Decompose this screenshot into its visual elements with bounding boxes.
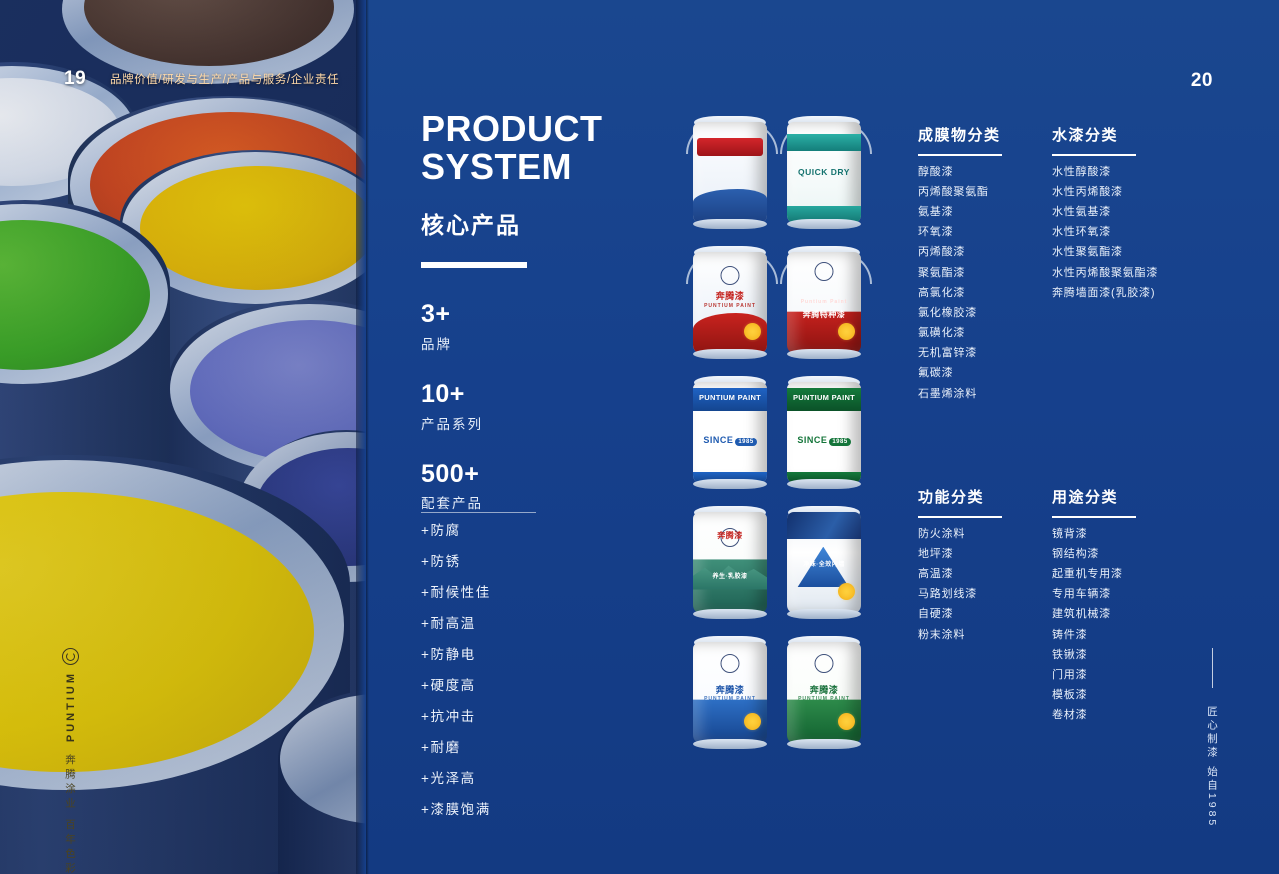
list-item: 防火涂料 [918, 529, 1002, 540]
feature-item: +漆膜饱满 [421, 803, 641, 817]
puntium-seal-icon [62, 648, 79, 665]
list-item: 氨基漆 [918, 207, 1002, 218]
list-item: 水性聚氨酯漆 [1052, 247, 1158, 258]
column-underline [918, 154, 1002, 156]
stat-label: 配套产品 [421, 492, 671, 512]
product-can-quick-dry: QUICK DRY [784, 108, 864, 226]
page-title-block: PRODUCT SYSTEM 核心产品 [421, 110, 681, 268]
list-item: 马路划线漆 [918, 589, 1002, 600]
brand-name-en: PUNTIUM [65, 671, 77, 742]
list-item: 地坪漆 [918, 549, 1002, 560]
product-can-puntium-paint-red: 奔腾漆 PUNTIUM PAINT [690, 238, 770, 356]
stat-number: 3+ [421, 300, 671, 329]
feature-item: +耐高温 [421, 617, 641, 631]
title-cn: 核心产品 [421, 206, 681, 240]
column-title: 成膜物分类 [918, 124, 1002, 145]
can-row: 奔腾漆 养生·乳胶漆 净味·全效内墙 [690, 498, 870, 620]
column-title: 用途分类 [1052, 486, 1136, 507]
list-item: 模板漆 [1052, 690, 1136, 701]
list-item: 粉末涂料 [918, 630, 1002, 641]
list-item: 氯化橡胶漆 [918, 308, 1002, 319]
column-items: 水性醇酸漆 水性丙烯酸漆 水性氨基漆 水性环氧漆 水性聚氨酯漆 水性丙烯酸聚氨酯… [1052, 167, 1158, 299]
feature-item: +耐候性佳 [421, 586, 641, 600]
list-item: 醇酸漆 [918, 167, 1002, 178]
can-row: PUNTIUM PAINT SINCE1985 PUNTIUM PAINT SI… [690, 368, 870, 490]
paint-cans-photo [0, 0, 366, 874]
stat-number: 500+ [421, 460, 671, 489]
product-can-puntium-blue: 奔腾漆 PUNTIUM PAINT [690, 628, 770, 746]
product-can-since-blue: PUNTIUM PAINT SINCE1985 [690, 368, 770, 486]
list-item: 水性丙烯酸漆 [1052, 187, 1158, 198]
column-underline [918, 516, 1002, 518]
list-item: 镜背漆 [1052, 529, 1136, 540]
vertical-rule [1212, 648, 1214, 688]
classification-column-usage: 用途分类 镜背漆 钢结构漆 起重机专用漆 专用车辆漆 建筑机械漆 铸件漆 铁锹漆… [1052, 486, 1136, 730]
brand-tagline-cn: 奔腾涂业 百年色彩 [63, 754, 78, 874]
list-item: 聚氨酯漆 [918, 268, 1002, 279]
title-underline [421, 262, 527, 268]
breadcrumb: 品牌价值/研发与生产/产品与服务/企业责任 [110, 71, 339, 87]
product-can-special-paint: Puntium Paint 奔腾特种漆 [784, 238, 864, 356]
list-item: 起重机专用漆 [1052, 569, 1136, 580]
page-number-right: 20 [1191, 70, 1213, 92]
list-item: 氯磺化漆 [918, 328, 1002, 339]
column-items: 镜背漆 钢结构漆 起重机专用漆 专用车辆漆 建筑机械漆 铸件漆 铁锹漆 门用漆 … [1052, 529, 1136, 722]
product-can-interior-silver: 净味·全效内墙 [784, 498, 864, 616]
list-item: 门用漆 [1052, 670, 1136, 681]
list-item: 环氧漆 [918, 227, 1002, 238]
column-underline [1052, 516, 1136, 518]
list-item: 石墨烯涂料 [918, 389, 1002, 400]
right-content-page: 20 PRODUCT SYSTEM 核心产品 3+ 品牌 10+ 产品系列 50… [366, 0, 1279, 874]
classification-column-waterpaint: 水漆分类 水性醇酸漆 水性丙烯酸漆 水性氨基漆 水性环氧漆 水性聚氨酯漆 水性丙… [1052, 124, 1158, 308]
column-items: 防火涂料 地坪漆 高温漆 马路划线漆 自硬漆 粉末涂料 [918, 529, 1002, 641]
can-row: 奔腾漆 PUNTIUM PAINT 奔腾漆 PUNTIUM PAINT [690, 628, 870, 750]
column-underline [1052, 154, 1136, 156]
classification-column-film: 成膜物分类 醇酸漆 丙烯酸聚氨酯 氨基漆 环氧漆 丙烯酸漆 聚氨酯漆 高氯化漆 … [918, 124, 1002, 409]
product-can-water-paint [690, 108, 770, 226]
spread-spine [366, 0, 369, 874]
feature-item: +抗冲击 [421, 710, 641, 724]
list-item: 铸件漆 [1052, 630, 1136, 641]
title-en-line2: SYSTEM [421, 148, 681, 186]
feature-item: +耐磨 [421, 741, 641, 755]
list-item: 建筑机械漆 [1052, 609, 1136, 620]
can-row: 奔腾漆 PUNTIUM PAINT Puntium Paint 奔腾特种漆 [690, 238, 870, 360]
stat-item: 3+ 品牌 [421, 300, 671, 353]
stats-list: 3+ 品牌 10+ 产品系列 500+ 配套产品 [421, 300, 671, 539]
features-divider [421, 512, 536, 513]
stat-label: 品牌 [421, 333, 671, 353]
vertical-slogan-block: 匠心制漆 始自1985 [1205, 648, 1220, 828]
stat-number: 10+ [421, 380, 671, 409]
left-photo-page: 19 品牌价值/研发与生产/产品与服务/企业责任 PUNTIUM 奔腾涂业 百年… [0, 0, 366, 874]
stat-label: 产品系列 [421, 413, 671, 433]
feature-item: +硬度高 [421, 679, 641, 693]
feature-item: +防锈 [421, 555, 641, 569]
list-item: 丙烯酸漆 [918, 247, 1002, 258]
classification-column-function: 功能分类 防火涂料 地坪漆 高温漆 马路划线漆 自硬漆 粉末涂料 [918, 486, 1002, 650]
product-can-latex-green: 奔腾漆 养生·乳胶漆 [690, 498, 770, 616]
column-title: 水漆分类 [1052, 124, 1158, 145]
list-item: 卷材漆 [1052, 710, 1136, 721]
list-item: 水性环氧漆 [1052, 227, 1158, 238]
list-item: 铁锹漆 [1052, 650, 1136, 661]
left-page-header: 19 品牌价值/研发与生产/产品与服务/企业责任 [0, 68, 366, 90]
title-en-line1: PRODUCT [421, 110, 681, 148]
feature-item: +光泽高 [421, 772, 641, 786]
can-row: QUICK DRY [690, 108, 870, 230]
list-item: 水性氨基漆 [1052, 207, 1158, 218]
list-item: 水性醇酸漆 [1052, 167, 1158, 178]
brochure-spread: 19 品牌价值/研发与生产/产品与服务/企业责任 PUNTIUM 奔腾涂业 百年… [0, 0, 1279, 874]
list-item: 丙烯酸聚氨酯 [918, 187, 1002, 198]
vertical-slogan: 匠心制漆 始自1985 [1205, 706, 1220, 828]
list-item: 水性丙烯酸聚氨酯漆 [1052, 268, 1158, 279]
list-item: 奔腾墙面漆(乳胶漆) [1052, 288, 1158, 299]
list-item: 高氯化漆 [918, 288, 1002, 299]
list-item: 高温漆 [918, 569, 1002, 580]
list-item: 氟碳漆 [918, 368, 1002, 379]
column-items: 醇酸漆 丙烯酸聚氨酯 氨基漆 环氧漆 丙烯酸漆 聚氨酯漆 高氯化漆 氯化橡胶漆 … [918, 167, 1002, 400]
list-item: 无机富锌漆 [918, 348, 1002, 359]
stat-item: 10+ 产品系列 [421, 380, 671, 433]
product-can-gallery: QUICK DRY 奔腾漆 PUNTIUM PAINT [690, 108, 870, 758]
feature-item: +防静电 [421, 648, 641, 662]
column-title: 功能分类 [918, 486, 1002, 507]
page-fold-shadow [356, 0, 366, 874]
list-item: 钢结构漆 [1052, 549, 1136, 560]
brand-logo-vertical: PUNTIUM 奔腾涂业 百年色彩 [62, 648, 79, 874]
features-list: +防腐 +防锈 +耐候性佳 +耐高温 +防静电 +硬度高 +抗冲击 +耐磨 +光… [421, 524, 641, 834]
stat-item: 500+ 配套产品 [421, 460, 671, 513]
list-item: 专用车辆漆 [1052, 589, 1136, 600]
feature-item: +防腐 [421, 524, 641, 538]
list-item: 自硬漆 [918, 609, 1002, 620]
product-can-since-green: PUNTIUM PAINT SINCE1985 [784, 368, 864, 486]
product-can-puntium-green: 奔腾漆 PUNTIUM PAINT [784, 628, 864, 746]
